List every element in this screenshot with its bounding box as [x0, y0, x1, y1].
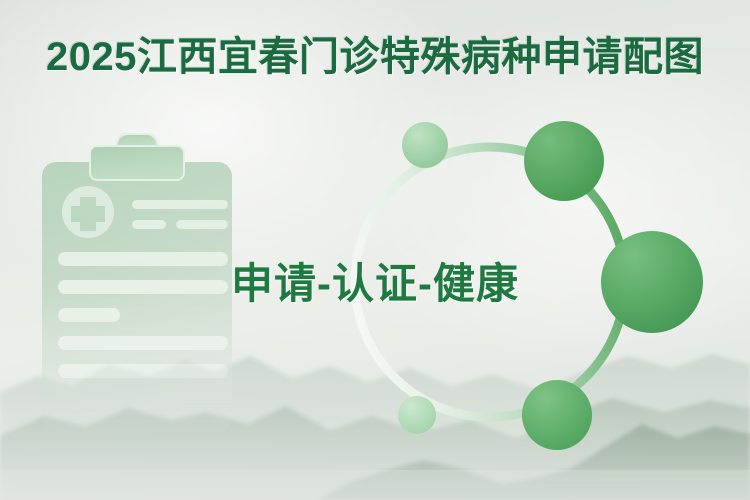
clipboard-text-line: [58, 336, 228, 350]
poster-canvas: 2025江西宜春门诊特殊病种申请配图: [0, 0, 750, 500]
clipboard-text-line: [176, 220, 228, 229]
clipboard-text-line: [58, 364, 228, 378]
page-title: 2025江西宜春门诊特殊病种申请配图: [0, 32, 750, 82]
medical-cross-icon: [62, 186, 114, 238]
ring-node-top-right: [524, 121, 604, 201]
clipboard-text-line: [132, 220, 166, 229]
clipboard-clip: [90, 134, 184, 180]
center-slogan: 申请-认证-健康: [0, 258, 750, 310]
ring-node-bottom-right: [522, 380, 592, 450]
ring-node-bottom-left: [398, 396, 436, 434]
ring-node-top-left: [402, 122, 448, 168]
clipboard-text-line: [58, 308, 120, 322]
clipboard-text-line: [132, 200, 228, 209]
